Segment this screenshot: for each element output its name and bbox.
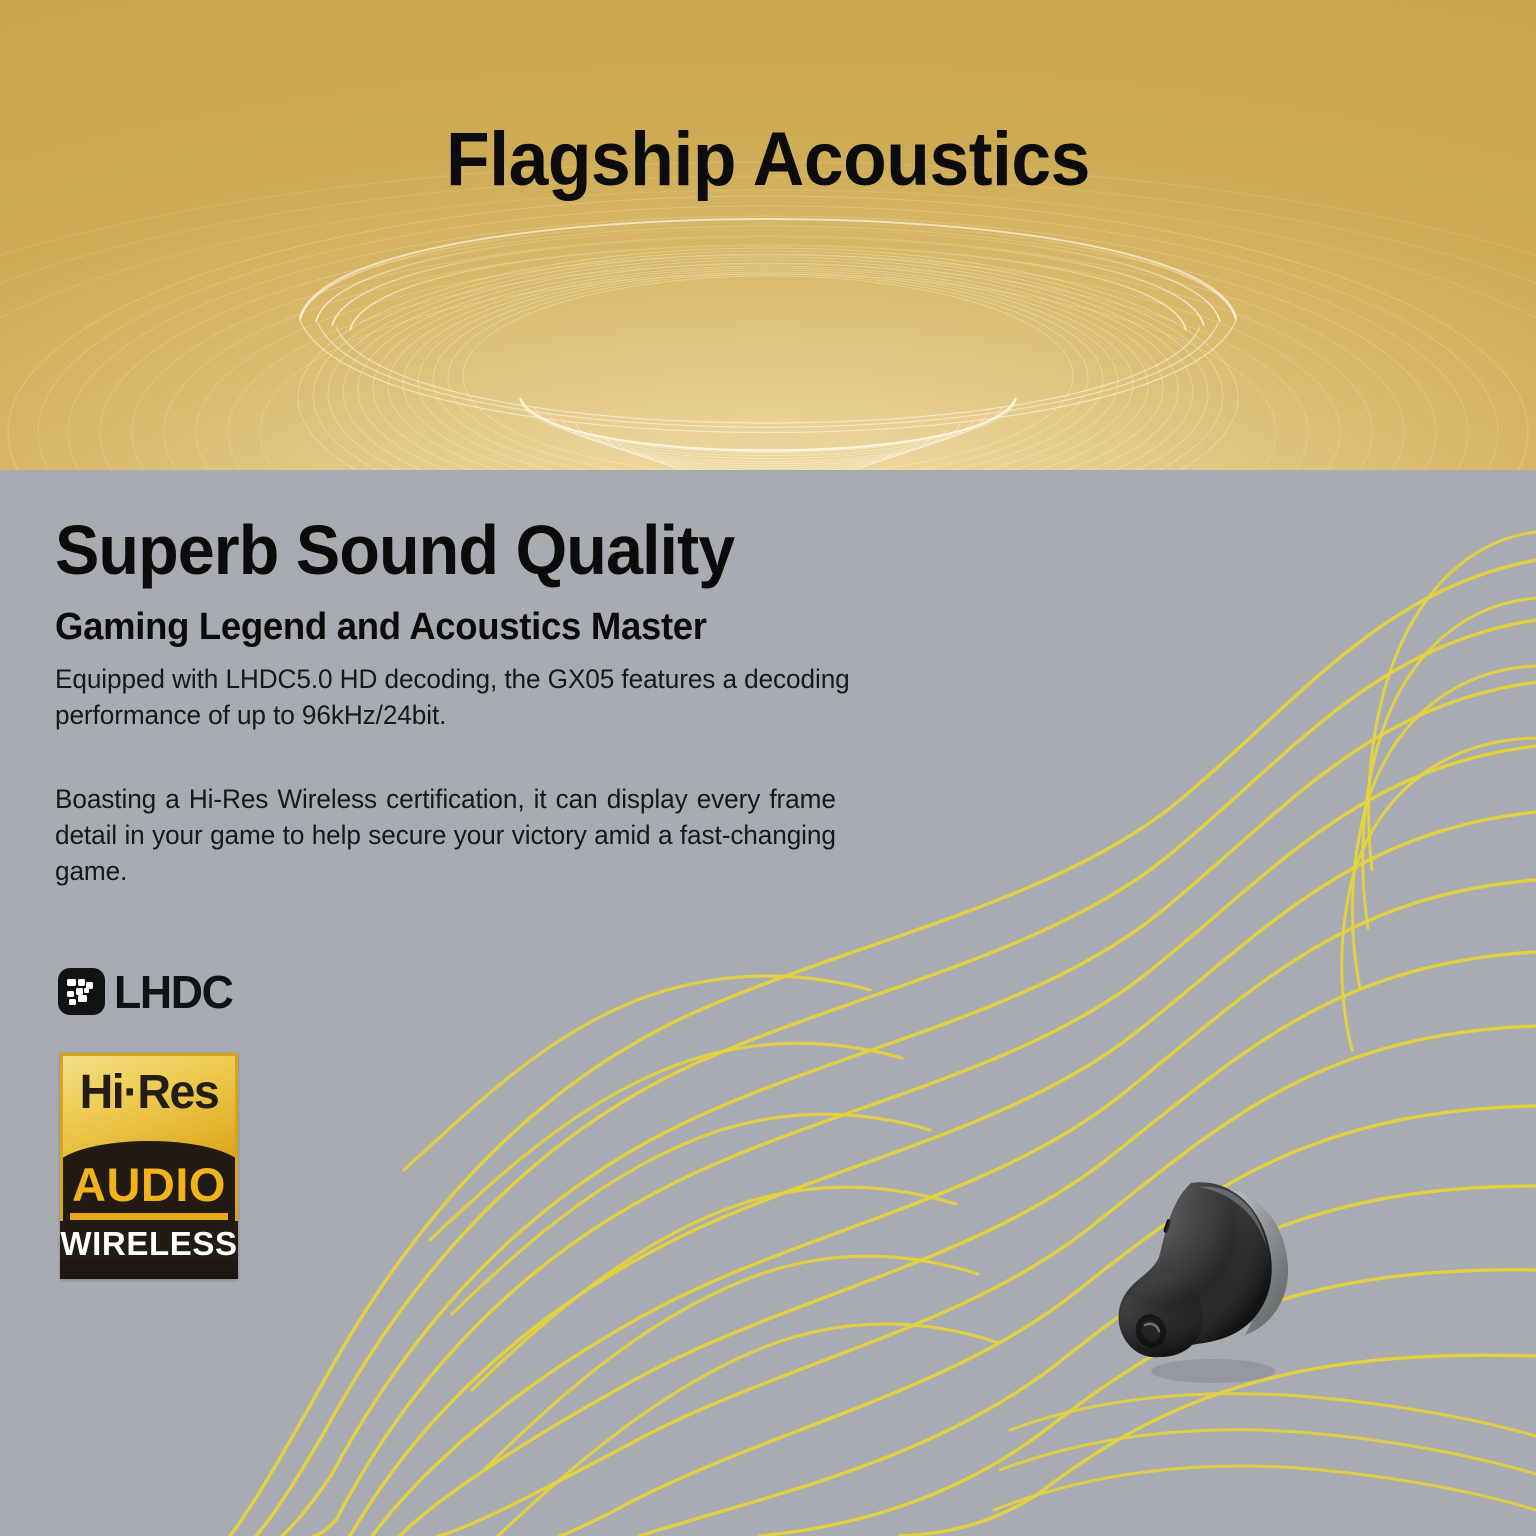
body-paragraph-1: Equipped with LHDC5.0 HD decoding, the G…: [55, 662, 860, 734]
hires-divider: [70, 1213, 228, 1220]
hi-res-audio-wireless-badge: Hi·Res AUDIO WIRELESS: [60, 1053, 238, 1279]
lhdc-mark-icon: [58, 968, 105, 1015]
copy-block: Superb Sound Quality Gaming Legend and A…: [55, 515, 885, 890]
feature-panel: Superb Sound Quality Gaming Legend and A…: [0, 470, 1536, 1536]
hires-line-3: WIRELESS: [60, 1227, 238, 1260]
earbud-black-side-image: [1095, 1165, 1325, 1395]
product-marketing-page: Flagship Acoustics: [0, 0, 1536, 1536]
hero-section: Flagship Acoustics: [0, 0, 1536, 470]
subheadline: Gaming Legend and Acoustics Master: [55, 607, 852, 648]
lhdc-badge: LHDC: [58, 968, 236, 1015]
lhdc-label: LHDC: [114, 969, 233, 1015]
hero-title: Flagship Acoustics: [46, 116, 1490, 203]
hires-line-2: AUDIO: [60, 1161, 238, 1208]
acoustic-ripple-graphic: [0, 0, 1536, 470]
body-paragraph-2: Boasting a Hi-Res Wireless certification…: [55, 782, 836, 890]
hires-line-1: Hi·Res: [63, 1069, 236, 1117]
page-title: Superb Sound Quality: [55, 515, 844, 585]
